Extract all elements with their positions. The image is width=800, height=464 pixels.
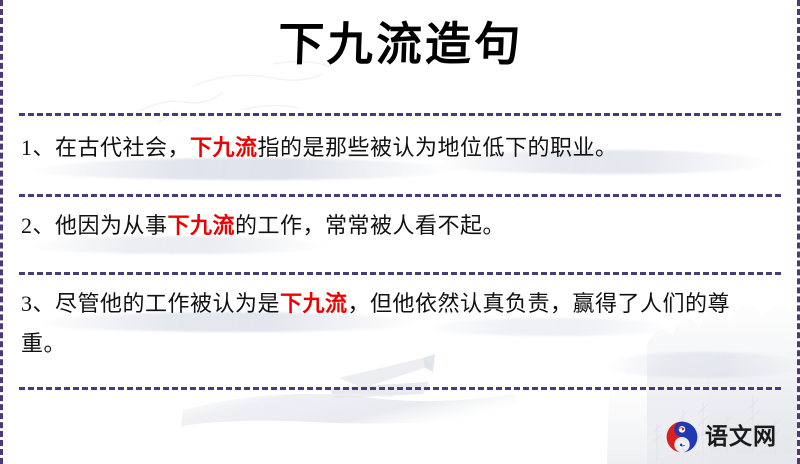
sentence-text-before-1: 在古代社会， xyxy=(55,135,190,160)
site-logo[interactable]: 语文网 xyxy=(665,420,777,454)
example-sentence-3: 3、尽管他的工作被认为是下九流，但他依然认真负责，赢得了人们的尊重。 xyxy=(21,284,773,364)
keyword-highlight-1: 下九流 xyxy=(190,135,258,160)
site-logo-text: 语文网 xyxy=(705,426,777,449)
title-container: 下九流造句 xyxy=(3,18,797,71)
sentence-number-1: 1、 xyxy=(21,135,55,160)
yinyang-logo-icon xyxy=(665,420,699,454)
dashed-divider-3 xyxy=(19,272,781,275)
keyword-highlight-2: 下九流 xyxy=(168,213,236,238)
sentence-text-before-2: 他因为从事 xyxy=(55,213,168,238)
slide-canvas: 下九流造句 1、在古代社会，下九流指的是那些被认为地位低下的职业。 2、他因为从… xyxy=(0,0,800,464)
sentence-text-after-1: 指的是那些被认为地位低下的职业。 xyxy=(258,135,618,160)
keyword-highlight-3: 下九流 xyxy=(280,291,348,316)
sentence-text-after-2: 的工作，常常被人看不起。 xyxy=(235,213,505,238)
dashed-divider-4 xyxy=(19,387,781,390)
dashed-divider-1 xyxy=(19,113,781,116)
page-title: 下九流造句 xyxy=(277,18,524,71)
sentence-number-2: 2、 xyxy=(21,213,55,238)
sentence-text-before-3: 尽管他的工作被认为是 xyxy=(55,291,280,316)
sentence-number-3: 3、 xyxy=(21,291,55,316)
dashed-divider-2 xyxy=(19,194,781,197)
example-sentence-2: 2、他因为从事下九流的工作，常常被人看不起。 xyxy=(21,206,773,246)
example-sentence-1: 1、在古代社会，下九流指的是那些被认为地位低下的职业。 xyxy=(21,128,773,168)
